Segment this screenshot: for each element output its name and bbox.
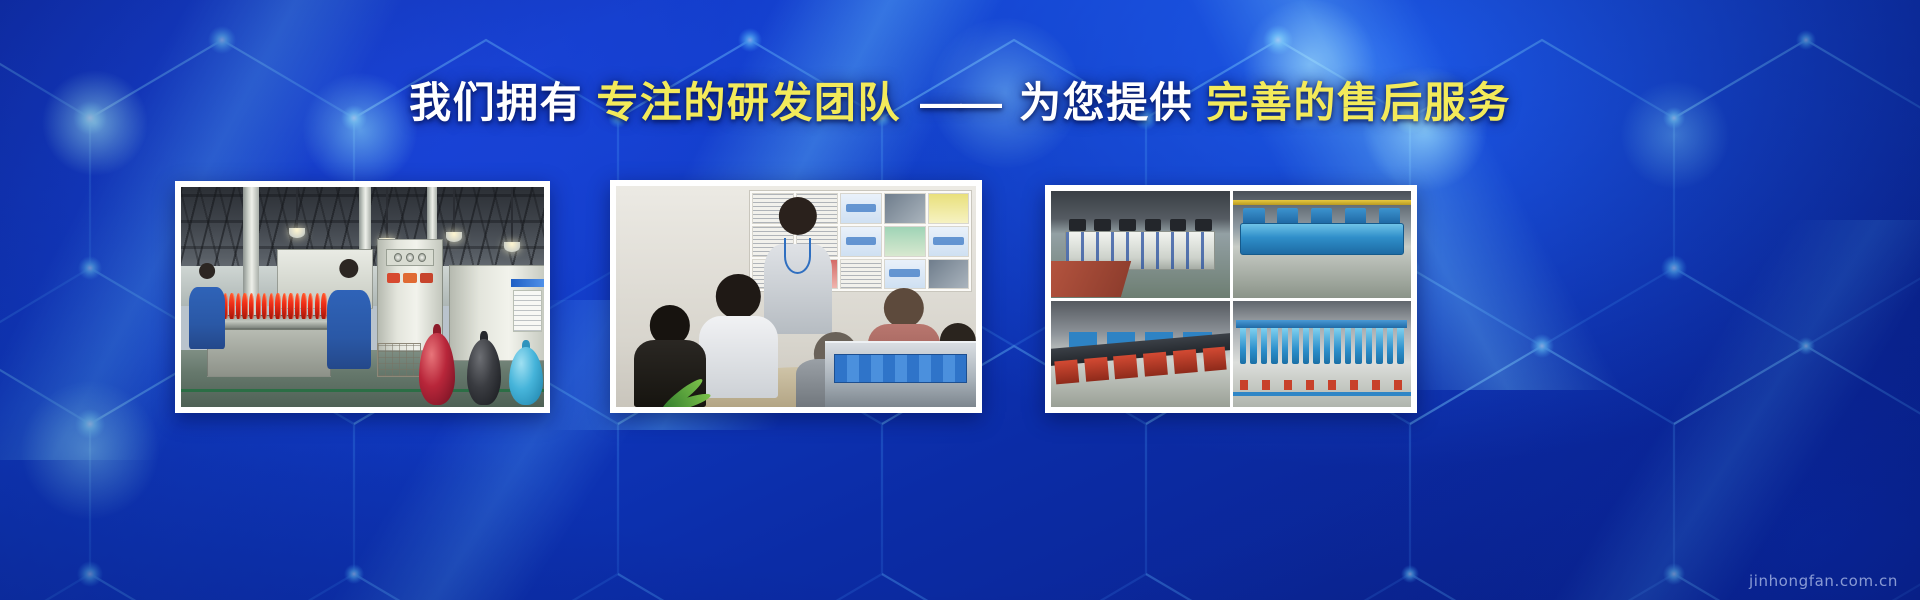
collage-cell-hanger-line <box>1233 301 1412 408</box>
watermark: jinhongfan.com.cn <box>1749 572 1898 590</box>
collage-cell-oven-line <box>1051 191 1230 298</box>
palm-leaf <box>623 314 717 407</box>
hero-banner: 我们拥有 专注的研发团队 —— 为您提供 完善的售后服务 <box>0 0 1920 600</box>
machine-inset <box>825 341 976 407</box>
photo-equipment-collage-image <box>1051 191 1411 407</box>
page-title: 我们拥有 专注的研发团队 —— 为您提供 完善的售后服务 <box>0 82 1920 124</box>
collage-cell-blue-tunnel <box>1233 191 1412 298</box>
collage-cell-conveyor <box>1051 301 1230 408</box>
headline-part-white-1: 我们拥有 <box>409 79 583 126</box>
photo-team-meeting[interactable] <box>610 180 982 413</box>
headline-part-white-2: 为您提供 <box>1019 79 1193 126</box>
photo-team-meeting-image <box>616 186 976 407</box>
photo-production-line[interactable] <box>175 181 550 413</box>
headline-part-yellow-1: 专注的研发团队 <box>596 79 901 126</box>
vase-black <box>467 339 501 405</box>
vase-red <box>419 333 455 405</box>
headline-part-yellow-2: 完善的售后服务 <box>1206 79 1511 126</box>
photo-equipment-collage[interactable] <box>1045 185 1417 413</box>
headline-dash: —— <box>914 82 1006 124</box>
photo-row <box>0 181 1920 413</box>
photo-production-line-image <box>181 187 544 407</box>
vase-blue <box>509 347 543 405</box>
